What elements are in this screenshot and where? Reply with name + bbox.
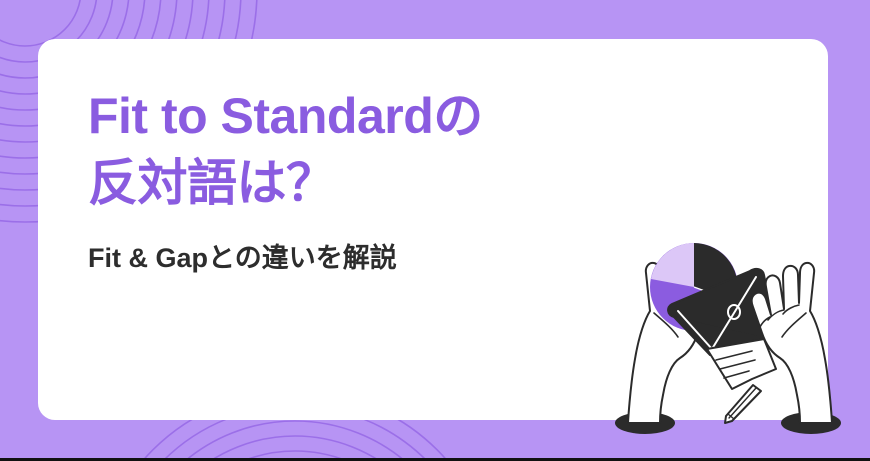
- content-card: Fit to Standardの反対語は？ Fit & Gapとの違いを解説: [38, 39, 828, 420]
- illustration-hands-laptop-pie-chart: [604, 227, 856, 443]
- banner: Fit to Standardの反対語は？ Fit & Gapとの違いを解説: [0, 0, 870, 461]
- pencil: [725, 385, 761, 423]
- page-title: Fit to Standardの反対語は？: [88, 83, 608, 217]
- text-block: Fit to Standardの反対語は？ Fit & Gapとの違いを解説: [88, 83, 608, 276]
- title-line-2: 反対語は？: [88, 150, 608, 217]
- document: [707, 339, 776, 389]
- title-line-1: Fit to Standardの: [88, 83, 608, 150]
- page-subtitle: Fit & Gapとの違いを解説: [88, 241, 608, 276]
